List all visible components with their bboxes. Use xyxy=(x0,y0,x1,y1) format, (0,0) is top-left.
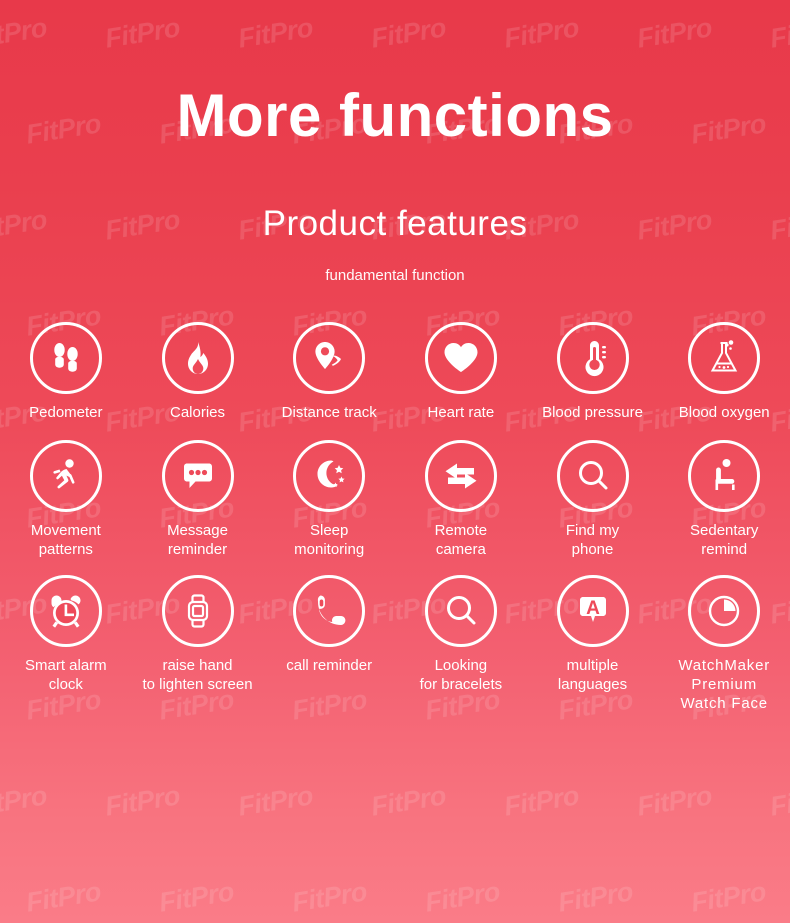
brand-watermark: FitPro xyxy=(369,780,448,822)
feature-label: Remote camera xyxy=(435,521,488,559)
feature-label: WatchMaker Premium Watch Face xyxy=(678,656,770,713)
alarm-clock-icon xyxy=(30,575,102,647)
location-pin-icon xyxy=(293,322,365,394)
footprints-icon xyxy=(30,322,102,394)
feature-item[interactable]: call reminder xyxy=(263,575,395,713)
section-tagline: fundamental function xyxy=(0,244,790,284)
feature-item[interactable]: Blood pressure xyxy=(527,322,659,422)
feature-item[interactable]: Find my phone xyxy=(527,440,659,559)
feature-label: Sleep monitoring xyxy=(294,521,364,559)
thermometer-icon xyxy=(557,322,629,394)
feature-label: Distance track xyxy=(282,403,377,422)
feature-item[interactable]: Smart alarm clock xyxy=(0,575,132,713)
feature-item[interactable]: Sleep monitoring xyxy=(263,440,395,559)
brand-watermark: FitPro xyxy=(768,780,790,822)
feature-item[interactable]: Sedentary remind xyxy=(658,440,790,559)
feature-row: Smart alarm clock raise hand to lighten … xyxy=(0,575,790,713)
feature-label: Heart rate xyxy=(428,403,495,422)
feature-item[interactable]: Distance track xyxy=(263,322,395,422)
two-way-arrows-icon xyxy=(425,440,497,512)
brand-watermark: FitPro xyxy=(689,876,768,918)
heart-icon xyxy=(425,322,497,394)
feature-item[interactable]: Calories xyxy=(132,322,264,422)
moon-stars-icon xyxy=(293,440,365,512)
brand-watermark: FitPro xyxy=(635,780,714,822)
feature-label: Calories xyxy=(170,403,225,422)
feature-label: Blood pressure xyxy=(542,403,643,422)
running-person-icon xyxy=(30,440,102,512)
feature-grid: Pedometer Calories xyxy=(0,322,790,713)
brand-watermark: FitPro xyxy=(103,780,182,822)
feature-item[interactable]: Movement patterns xyxy=(0,440,132,559)
feature-label: Looking for bracelets xyxy=(420,656,503,694)
page-content: More functions Product features fundamen… xyxy=(0,0,790,713)
feature-label: Message reminder xyxy=(167,521,228,559)
seated-person-icon xyxy=(688,440,760,512)
brand-watermark: FitPro xyxy=(290,876,369,918)
feature-label: Sedentary remind xyxy=(690,521,758,559)
phone-handset-icon xyxy=(293,575,365,647)
feature-row: Pedometer Calories xyxy=(0,322,790,440)
smartwatch-icon xyxy=(162,575,234,647)
brand-watermark: FitPro xyxy=(236,780,315,822)
brand-watermark: FitPro xyxy=(502,780,581,822)
feature-item[interactable]: Pedometer xyxy=(0,322,132,422)
brand-watermark: FitPro xyxy=(0,780,49,822)
magnifier-icon xyxy=(557,440,629,512)
clock-icon xyxy=(688,575,760,647)
feature-item[interactable]: WatchMaker Premium Watch Face xyxy=(658,575,790,713)
brand-watermark: FitPro xyxy=(556,876,635,918)
section-subtitle: Product features xyxy=(0,146,790,244)
feature-item[interactable]: A multiple languages xyxy=(527,575,659,713)
feature-item[interactable]: Remote camera xyxy=(395,440,527,559)
feature-label: Find my phone xyxy=(566,521,619,559)
svg-text:A: A xyxy=(586,598,600,619)
feature-row: Movement patterns Message reminder xyxy=(0,440,790,575)
flask-icon xyxy=(688,322,760,394)
brand-watermark: FitPro xyxy=(157,876,236,918)
feature-label: Blood oxygen xyxy=(679,403,770,422)
magnifier-icon xyxy=(425,575,497,647)
feature-label: Pedometer xyxy=(29,403,102,422)
feature-item[interactable]: raise hand to lighten screen xyxy=(132,575,264,713)
page-title: More functions xyxy=(0,0,790,146)
brand-watermark: FitPro xyxy=(423,876,502,918)
flame-icon xyxy=(162,322,234,394)
feature-label: Smart alarm clock xyxy=(25,656,107,694)
letter-a-bubble-icon: A xyxy=(557,575,629,647)
brand-watermark: FitPro xyxy=(24,876,103,918)
feature-item[interactable]: Looking for bracelets xyxy=(395,575,527,713)
feature-label: Movement patterns xyxy=(31,521,101,559)
feature-item[interactable]: Message reminder xyxy=(132,440,264,559)
feature-label: call reminder xyxy=(286,656,372,675)
feature-item[interactable]: Heart rate xyxy=(395,322,527,422)
chat-bubble-icon xyxy=(162,440,234,512)
feature-label: raise hand to lighten screen xyxy=(142,656,252,694)
feature-item[interactable]: Blood oxygen xyxy=(658,322,790,422)
feature-label: multiple languages xyxy=(558,656,627,694)
